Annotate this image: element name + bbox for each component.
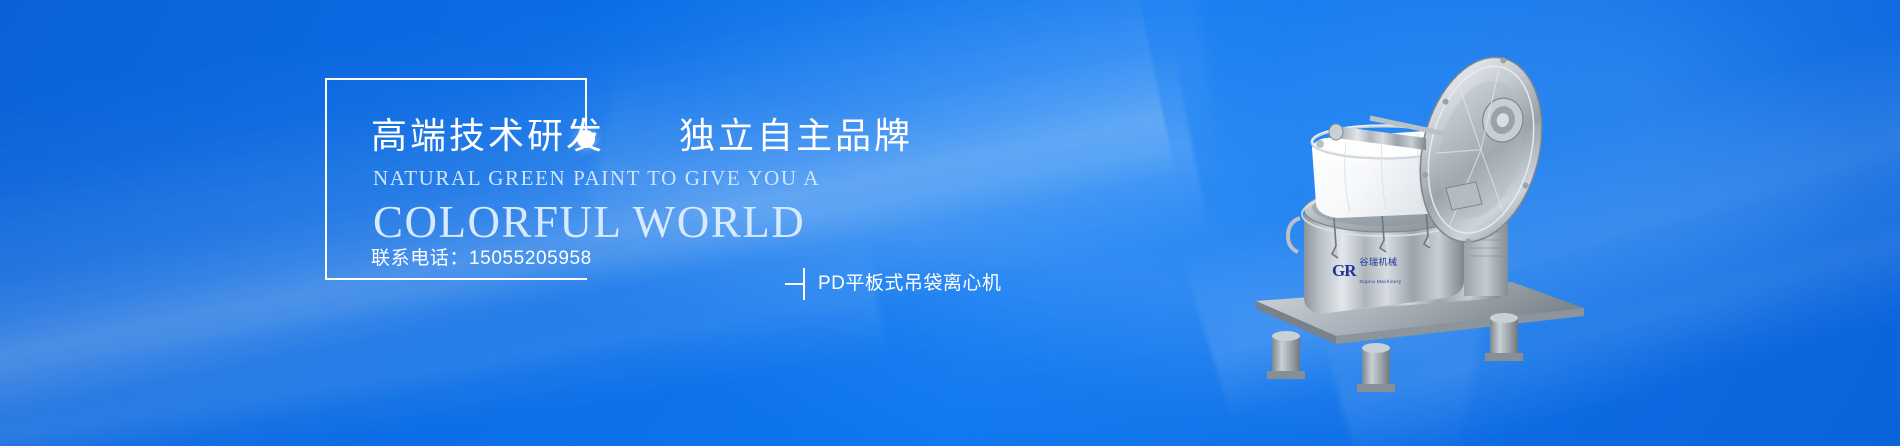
headline-segment-2: 独立自主品牌 (679, 115, 913, 156)
machine-leg (1267, 331, 1305, 379)
product-caption-label: PD平板式吊袋离心机 (818, 273, 1001, 295)
caption-divider-bar (803, 268, 805, 300)
product-image-centrifuge (1250, 18, 1590, 428)
logo-name-cn: 谷瑞机械 (1360, 257, 1398, 267)
logo-mark: GR (1332, 262, 1356, 279)
light-streak (0, 239, 886, 446)
logo-name-pinyin: Guprui Machinery (1360, 279, 1402, 284)
subtitle-english: NATURAL GREEN PAINT TO GIVE YOU A (373, 168, 820, 189)
page-title: 高端技术研发独立自主品牌 (371, 118, 913, 154)
caption-connector-line (785, 283, 803, 285)
headline-segment-1: 高端技术研发 (371, 115, 605, 156)
machine-leg (1485, 313, 1523, 361)
contact-phone: 联系电话：15055205958 (371, 249, 592, 268)
machine-leg (1357, 343, 1395, 392)
brand-logo: GR 谷瑞机械 Guprui Machinery (1332, 252, 1401, 288)
headline-english: COLORFUL WORLD (373, 200, 805, 245)
promo-banner: 高端技术研发独立自主品牌 NATURAL GREEN PAINT TO GIVE… (0, 0, 1900, 446)
